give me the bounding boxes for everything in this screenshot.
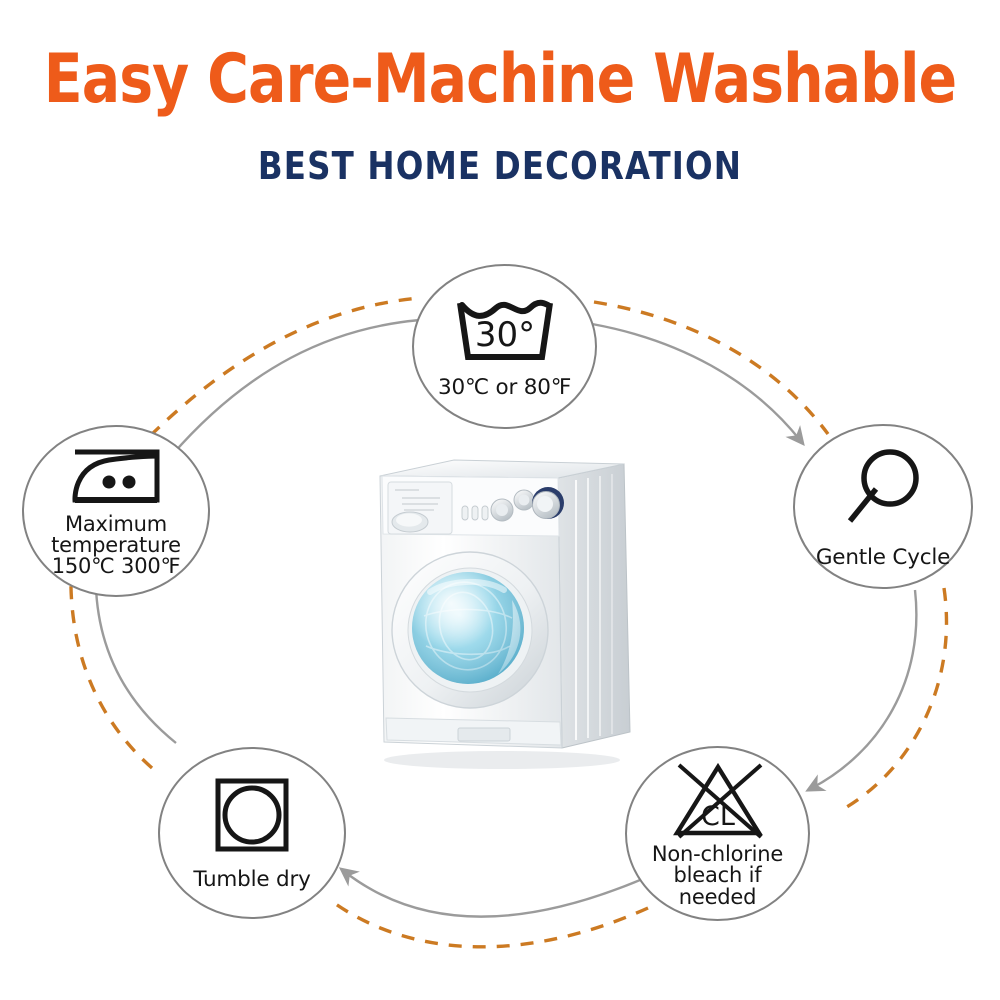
care-cycle-diagram: 30° 30℃ or 80℉ Gentle Cycle CL — [0, 240, 1000, 1000]
page-title: Easy Care-Machine Washable — [35, 0, 965, 114]
iron-two-dots-icon — [61, 446, 171, 512]
svg-text:CL: CL — [701, 801, 735, 832]
care-node-iron[interactable]: Maximum temperature 150℃ 300℉ — [22, 425, 210, 597]
page-subtitle: BEST HOME DECORATION — [25, 114, 975, 185]
header: Easy Care-Machine Washable BEST HOME DEC… — [0, 0, 1000, 185]
gentle-cycle-icon — [838, 445, 928, 539]
infographic-root: Easy Care-Machine Washable BEST HOME DEC… — [0, 0, 1000, 1000]
care-node-label: 30℃ or 80℉ — [438, 377, 571, 399]
wash-tub-30-icon: 30° — [452, 295, 558, 371]
care-node-label: Gentle Cycle — [816, 547, 950, 569]
care-node-label: Maximum temperature 150℃ 300℉ — [51, 514, 181, 577]
care-node-bleach[interactable]: CL Non-chlorine bleach if needed — [625, 746, 810, 921]
tumble-dry-icon — [209, 775, 295, 861]
care-node-gentle-cycle[interactable]: Gentle Cycle — [793, 424, 973, 589]
care-node-label: Non-chlorine bleach if needed — [652, 844, 783, 908]
washing-machine-illustration — [362, 440, 647, 770]
non-chlorine-bleach-icon: CL — [665, 759, 771, 843]
svg-text:30°: 30° — [474, 315, 534, 355]
care-node-tumble-dry[interactable]: Tumble dry — [158, 747, 346, 919]
care-node-wash[interactable]: 30° 30℃ or 80℉ — [412, 264, 597, 429]
care-node-label: Tumble dry — [193, 869, 310, 891]
